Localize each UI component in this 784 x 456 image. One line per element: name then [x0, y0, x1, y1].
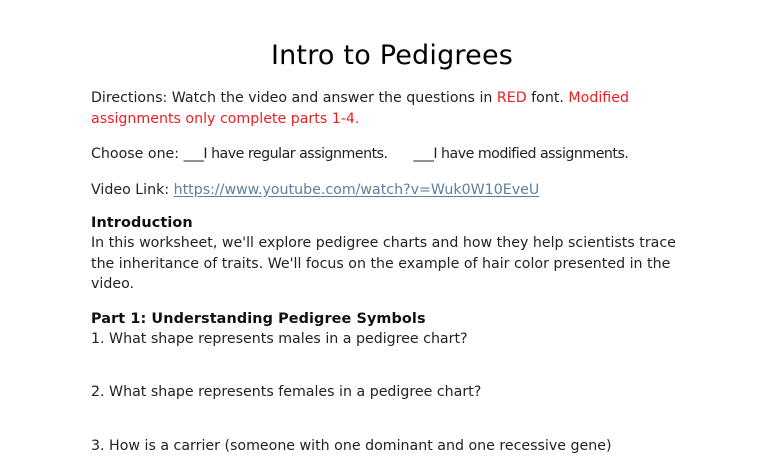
choose-one-label: Choose one:	[91, 146, 179, 162]
part-1-heading: Part 1: Understanding Pedigree Symbols	[91, 309, 683, 329]
document-body: Directions: Watch the video and answer t…	[91, 88, 683, 456]
video-link-label: Video Link:	[91, 182, 169, 198]
video-link-url[interactable]: https://www.youtube.com/watch?v=Wuk0W10E…	[174, 182, 540, 198]
worksheet-page: Intro to Pedigrees Directions: Watch the…	[0, 0, 784, 441]
answer-space-2[interactable]	[91, 403, 683, 436]
introduction-heading: Introduction	[91, 213, 683, 233]
introduction-body: In this worksheet, we'll explore pedigre…	[91, 233, 683, 295]
question-1: 1. What shape represents males in a pedi…	[91, 329, 683, 350]
directions-mid-text: font.	[527, 90, 569, 106]
answer-space-1[interactable]	[91, 349, 683, 382]
directions-lead-text: Directions: Watch the video and answer t…	[91, 90, 497, 106]
page-title: Intro to Pedigrees	[0, 40, 784, 72]
choose-option-regular[interactable]: ___I have regular assignments.	[184, 146, 388, 162]
video-link-line: Video Link: https://www.youtube.com/watc…	[91, 180, 683, 201]
directions-red-keyword: RED	[497, 90, 527, 106]
directions-paragraph: Directions: Watch the video and answer t…	[91, 88, 683, 129]
question-2: 2. What shape represents females in a pe…	[91, 382, 683, 403]
choose-one-line: Choose one: ___I have regular assignment…	[91, 144, 683, 165]
choose-option-modified[interactable]: ___I have modified assignments.	[414, 146, 629, 162]
question-3: 3. How is a carrier (someone with one do…	[91, 436, 683, 456]
